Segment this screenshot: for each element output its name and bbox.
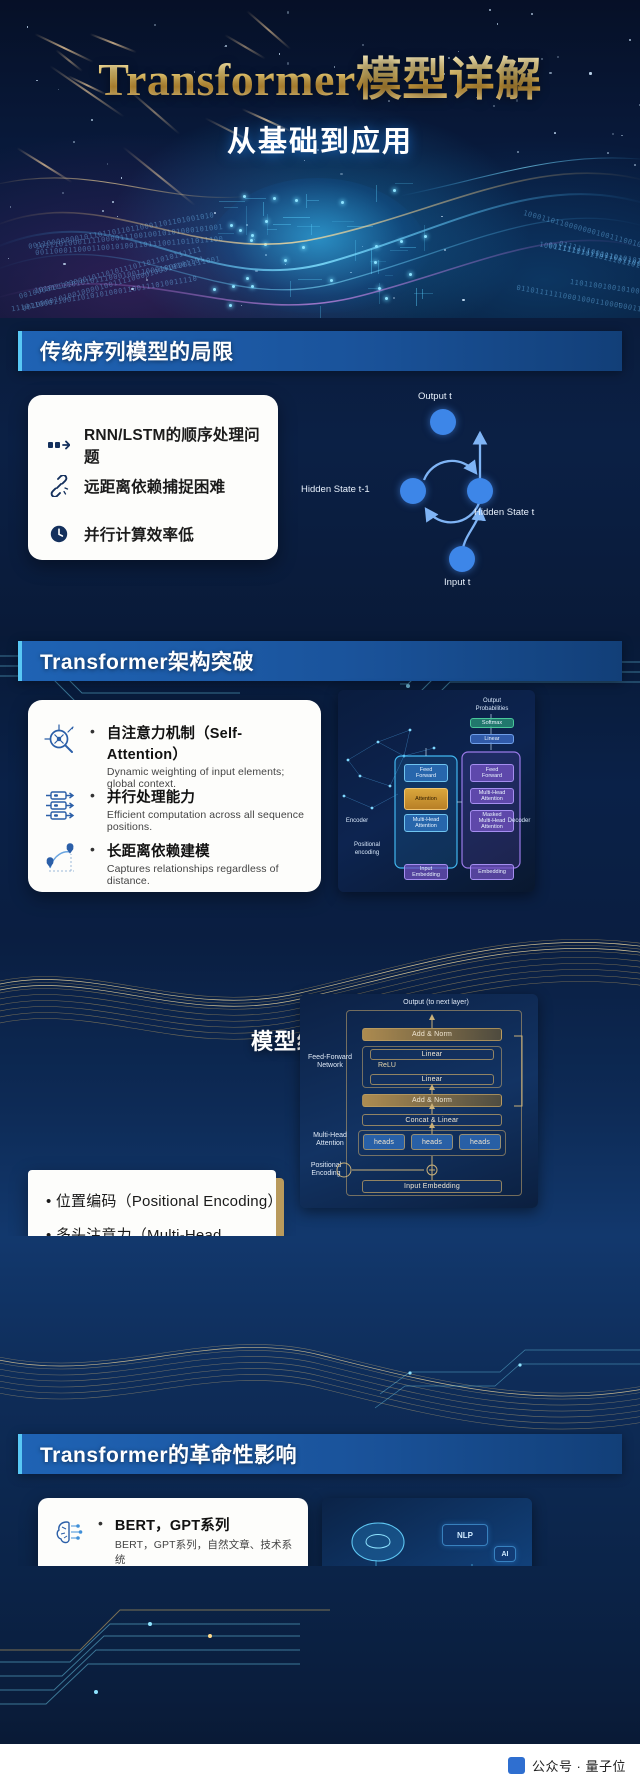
rnn-label-hidden-cur: Hidden State t xyxy=(474,507,534,518)
enc-block-linear-bottom: Linear xyxy=(370,1074,494,1085)
enc-block-concat-linear: Concat & Linear xyxy=(362,1114,502,1126)
sequence-arrow-icon xyxy=(46,432,72,458)
feature-row-0: • 自注意力机制（Self-Attention） Dynamic weighti… xyxy=(42,722,310,790)
feature-bullet-dot: • xyxy=(90,786,97,804)
structure-item-text: 位置编码（Positional Encoding） xyxy=(56,1193,283,1210)
structure-bullet-dot: • xyxy=(46,1193,56,1210)
enc-block-add-norm-mid: Add & Norm xyxy=(362,1094,502,1107)
enc-block-head-2: heads xyxy=(411,1134,453,1150)
structure-item-0: • 位置编码（Positional Encoding） xyxy=(46,1190,276,1211)
footer-text: 公众号 · 量子位 xyxy=(532,1756,626,1775)
feature-title: 长距离依赖建模 xyxy=(107,840,310,861)
rnn-label-output: Output t xyxy=(418,391,452,402)
footer-bar: 公众号 · 量子位 xyxy=(0,1744,640,1786)
section-header-impact: Transformer的革命性影响 xyxy=(18,1434,622,1474)
limit-bullet-text: 并行计算效率低 xyxy=(84,523,194,545)
block-embedding: Embedding xyxy=(470,864,514,880)
parallel-pipelines-icon xyxy=(42,786,80,824)
feature-text-block: 并行处理能力 Efficient computation across all … xyxy=(107,786,310,833)
block-softmax: Softmax xyxy=(470,718,514,728)
feature-bullet-dot: • xyxy=(90,722,97,740)
rnn-node-hidden-prev xyxy=(400,478,426,504)
hero-subtitle: 从基础到应用 xyxy=(0,118,640,160)
section-heading-text: 传统序列模型的局限 xyxy=(22,336,234,366)
application-text-block: BERT，GPT系列 BERT，GPT系列，自然文章、技术系统 xyxy=(115,1514,300,1567)
infographic-page: 1011101000111100001110010010101000101001… xyxy=(0,0,640,1786)
bottom-circuit-decor xyxy=(0,1566,640,1746)
enc-block-input-embedding: Input Embedding xyxy=(362,1180,502,1193)
limit-bullet-0: RNN/LSTM的顺序处理问题 xyxy=(46,423,264,467)
section-heading-text: Transformer的革命性影响 xyxy=(22,1439,297,1469)
link-broken-icon xyxy=(46,473,72,499)
rnn-recurrence-diagram: Output t Hidden State t-1 Hidden State t… xyxy=(296,385,626,585)
rnn-node-input xyxy=(449,546,475,572)
block-attention: Attention xyxy=(404,788,448,810)
feature-row-2: • 长距离依赖建模 Captures relationships regardl… xyxy=(42,840,310,887)
rnn-node-hidden-cur xyxy=(467,478,493,504)
enc-block-head-1: heads xyxy=(363,1134,405,1150)
encoder-layer-detail-diagram: Output (to next layer) Add & Norm Linear… xyxy=(300,994,538,1208)
block-decoder-feed-forward: Feed Forward xyxy=(470,764,514,782)
block-linear: Linear xyxy=(470,734,514,744)
feature-text-block: 自注意力机制（Self-Attention） Dynamic weighting… xyxy=(107,722,310,790)
rnn-label-hidden-prev: Hidden State t-1 xyxy=(301,484,370,495)
block-decoder-multi-head-attention: Multi-Head Attention xyxy=(470,788,514,804)
rnn-node-output xyxy=(430,409,456,435)
enc-label-relu: ReLU xyxy=(378,1062,438,1070)
section-header-limits: 传统序列模型的局限 xyxy=(18,331,622,371)
application-desc: BERT，GPT系列，自然文章、技术系统 xyxy=(115,1537,300,1567)
feature-desc: Efficient computation across all sequenc… xyxy=(107,809,310,833)
label-output-probabilities: Output Probabilities xyxy=(466,698,518,713)
feature-bullet-dot: • xyxy=(90,840,97,858)
application-title: BERT，GPT系列 xyxy=(115,1514,300,1535)
hero-banner: 1011101000111100001110010010101000101001… xyxy=(0,0,640,318)
enc-label-output: Output (to next layer) xyxy=(366,999,506,1007)
hero-title: Transformer模型详解 xyxy=(0,55,640,106)
app-badge-ai: AI xyxy=(494,1546,516,1562)
limit-bullet-text: 远距离依赖捕捉困难 xyxy=(84,475,225,497)
section-header-breakthrough: Transformer架构突破 xyxy=(18,641,622,681)
label-decoder: Decoder xyxy=(504,818,534,826)
enc-label-positional-encoding: Positional Encoding xyxy=(302,1162,350,1179)
block-encoder-feed-forward: Feed Forward xyxy=(404,764,448,782)
block-encoder-multi-head-attention: Multi-Head Attention xyxy=(404,814,448,832)
brain-chip-icon xyxy=(50,1514,88,1552)
rnn-label-input: Input t xyxy=(444,577,470,588)
feature-desc: Captures relationships regardless of dis… xyxy=(107,863,310,887)
breakthrough-card: • 自注意力机制（Self-Attention） Dynamic weighti… xyxy=(28,700,321,892)
app-bullet-dot: • xyxy=(98,1514,105,1532)
app-label-nlp: NLP xyxy=(442,1524,488,1546)
limit-bullet-text: RNN/LSTM的顺序处理问题 xyxy=(84,423,264,467)
feature-text-block: 长距离依赖建模 Captures relationships regardles… xyxy=(107,840,310,887)
clock-icon xyxy=(46,521,72,547)
limits-card: RNN/LSTM的顺序处理问题 远距离依赖捕捉困难 并行计算效率低 xyxy=(28,395,278,560)
attention-magnifier-icon xyxy=(42,722,80,760)
enc-block-linear-top: Linear xyxy=(370,1049,494,1060)
qbitai-logo-icon xyxy=(508,1757,525,1774)
enc-label-ffn: Feed-Forward Network xyxy=(302,1054,358,1071)
transformer-encoder-decoder-diagram: Output Probabilities Softmax Linear Feed… xyxy=(338,690,535,892)
long-range-curve-icon xyxy=(42,840,80,878)
enc-block-add-norm-top: Add & Norm xyxy=(362,1028,502,1041)
enc-block-head-3: heads xyxy=(459,1134,501,1150)
section-heading-text: Transformer架构突破 xyxy=(22,646,254,676)
label-encoder: Encoder xyxy=(342,818,372,826)
feature-title: 自注意力机制（Self-Attention） xyxy=(107,722,310,764)
feature-title: 并行处理能力 xyxy=(107,786,310,807)
label-positional-encoding: Positional encoding xyxy=(346,842,388,857)
gold-wave-divider-2 xyxy=(0,1316,640,1436)
limit-bullet-2: 并行计算效率低 xyxy=(46,521,264,547)
application-row-0: • BERT，GPT系列 BERT，GPT系列，自然文章、技术系统 xyxy=(50,1514,300,1567)
enc-label-mha: Multi-Head Attention xyxy=(302,1132,358,1149)
feature-row-1: • 并行处理能力 Efficient computation across al… xyxy=(42,786,310,833)
limit-bullet-1: 远距离依赖捕捉困难 xyxy=(46,473,264,499)
block-input-embedding: Input Embedding xyxy=(404,864,448,880)
